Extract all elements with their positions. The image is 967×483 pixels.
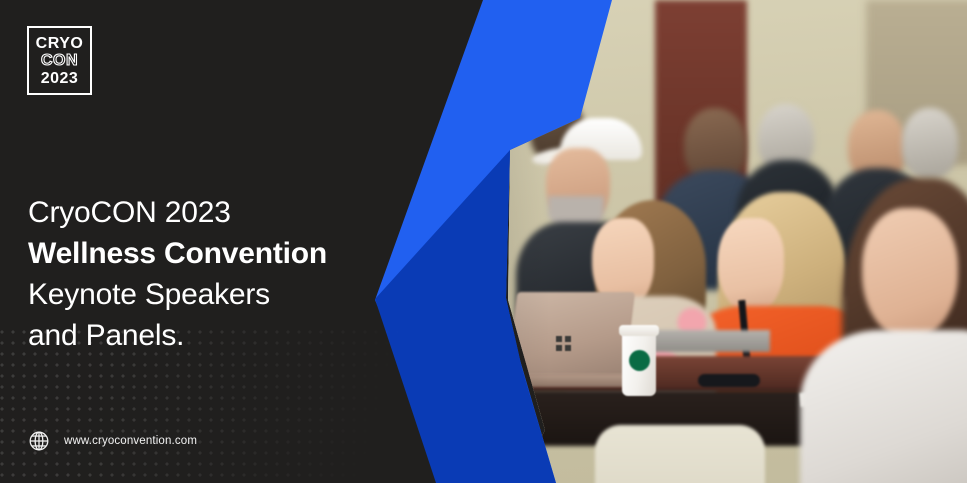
footer-website[interactable]: www.cryoconvention.com	[28, 430, 197, 452]
headline-line-2: Wellness Convention	[28, 233, 428, 274]
headline-line-4: and Panels.	[28, 315, 428, 356]
photo-foreground-face	[862, 208, 958, 340]
photo-phone	[698, 374, 760, 387]
page-title: CryoCON 2023 Wellness Convention Keynote…	[28, 192, 428, 356]
headline-line-1: CryoCON 2023	[28, 192, 428, 233]
promo-banner: CRYO CON 2023 CryoCON 2023 Wellness Conv…	[0, 0, 967, 483]
photo-chair	[595, 425, 765, 483]
logo-line-year: 2023	[41, 70, 79, 87]
website-url[interactable]: www.cryoconvention.com	[64, 435, 197, 447]
logo-line-cryo: CRYO	[36, 35, 84, 52]
logo-line-con: CON	[41, 52, 78, 70]
photo-coffee-lid	[619, 325, 659, 336]
photo-laptop-logo	[556, 336, 571, 351]
photo-coffee-logo	[629, 350, 650, 371]
photo-woman-face	[718, 218, 784, 314]
photo-attendee-head	[902, 108, 958, 178]
cryocon-logo: CRYO CON 2023	[27, 26, 92, 95]
globe-icon	[28, 430, 50, 452]
photo-foreground-body	[800, 330, 967, 483]
photo-laptop-lid	[507, 292, 635, 376]
headline-line-3: Keynote Speakers	[28, 274, 428, 315]
